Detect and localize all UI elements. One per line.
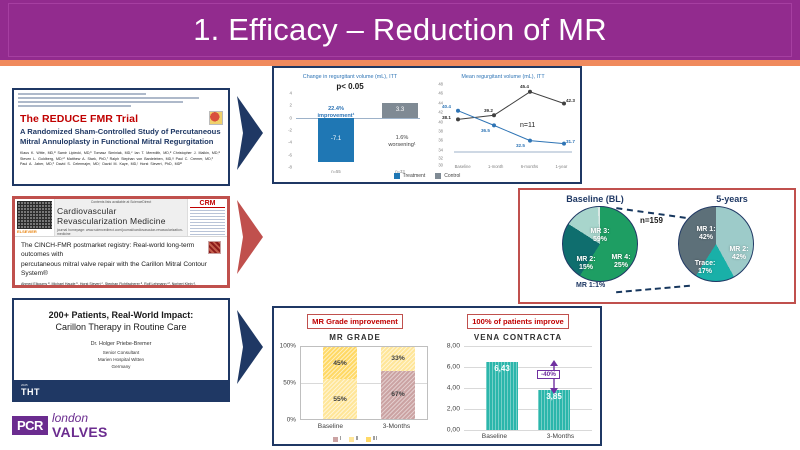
y-tick: 48 <box>438 81 443 86</box>
legend-label-grade-II: II <box>356 436 359 442</box>
bar-control[interactable]: 3.3 <box>382 103 418 118</box>
bar-vena-baseline[interactable]: 6,43 <box>486 362 518 430</box>
connector-bottom <box>616 285 690 293</box>
presentation-title-line1: 200+ Patients, Real-World Impact: <box>49 309 194 321</box>
grade-plot-frame: 45% 55% 33% 67% <box>300 346 428 420</box>
vc-plot-area: 8,00 6,00 4,00 2,00 0,00 6,43 3,85 <box>464 346 592 430</box>
note-treatment-line2: improvement¹ <box>302 113 370 120</box>
point-label-control-1month: 39.2 <box>484 108 493 113</box>
legend-swatch-treatment <box>394 173 400 179</box>
pie-slice-value-mr4: 25% <box>614 262 628 269</box>
elsevier-logo: ELSEVIER <box>15 199 55 236</box>
note-control-line1: 1.6% <box>374 135 430 142</box>
segment-3months-I: 67% <box>381 371 415 419</box>
segment-baseline-II: 55% <box>323 379 357 419</box>
pie-title-baseline: Baseline (BL) <box>566 194 624 204</box>
pie-slice-label-mr2-5y: MR 2: 42% <box>720 246 758 263</box>
presenter-role: Senior Consultant <box>103 350 140 357</box>
crossmark-icon <box>208 241 221 254</box>
publication-title-line2: percutaneous mitral valve repair with th… <box>21 260 221 279</box>
panel-routine-care-charts: MR Grade improvement MR GRADE 100% 50% 0… <box>272 306 602 446</box>
legend-label-grade-I: I <box>340 436 342 442</box>
publication-subtitle-line1: A Randomized Sham-Controlled Study of Pe… <box>20 127 222 137</box>
chart-title-mr-grade: MR GRADE <box>276 333 434 342</box>
grade-plot-area: 100% 50% 0% 45% 55% 33% 67% <box>300 346 428 420</box>
publication-card-cinch-fmr[interactable]: ELSEVIER Contents lists available at Sci… <box>12 196 230 288</box>
legend-label-grade-III: III <box>373 436 378 442</box>
chart-mr-grade-improvement: MR Grade improvement MR GRADE 100% 50% 0… <box>274 308 436 444</box>
publication-card-reduce-fmr[interactable]: The REDUCE FMR Trial A Randomized Sham-C… <box>12 88 230 186</box>
x-tick-3months: 3-Months <box>383 423 411 430</box>
pie-slice-value-trace: 17% <box>698 268 712 275</box>
chart-title-vena-contracta: VENA CONTRACTA <box>438 333 598 342</box>
arrow-middle-icon <box>237 200 271 274</box>
stacked-bar-baseline[interactable]: 45% 55% <box>323 347 357 419</box>
legend-label-treatment: Treatment <box>403 173 426 179</box>
presenter-name: Dr. Holger Priebe-Bremer <box>91 341 152 347</box>
point-label-control-baseline: 38.1 <box>442 115 451 120</box>
legend-item-grade-II: II <box>349 436 359 442</box>
page-title: 1. Efficacy – Reduction of MR <box>0 0 800 60</box>
tht-footer: 2025 THT <box>14 380 228 400</box>
x-axis-ticks: Baseline 3-Months <box>462 433 594 440</box>
n-annotation: n=11 <box>520 122 535 129</box>
y-tick: 32 <box>438 155 443 160</box>
legend-item-grade-I: I <box>333 436 342 442</box>
publication-title-line1: The CINCH-FMR postmarket registry: Real-… <box>21 241 221 260</box>
pie-slice-name-mr3: MR 3: <box>590 228 609 235</box>
delta-label: -40% <box>537 370 560 379</box>
y-tick: 42 <box>438 110 443 115</box>
pie-slice-label-mr2: MR 2: 15% <box>570 256 602 273</box>
pie-slice-label-mr3: MR 3: 59% <box>578 228 622 245</box>
x-axis-ticks: Baseline 3-Months <box>298 423 430 430</box>
sample-size-label: n=159 <box>640 216 663 225</box>
publication-authors-line3: Paul A. Jaber, MD,ʰ David S. Celermajer,… <box>20 162 222 168</box>
x-tick: 1-month <box>488 164 503 169</box>
y-tick: 4,00 <box>447 385 460 392</box>
elsevier-tree-icon <box>17 201 52 229</box>
crm-brand-block: CRM <box>187 199 227 236</box>
y-tick: 38 <box>438 129 443 134</box>
pie-slice-value-mr2: 15% <box>579 264 593 271</box>
chart-mean-regurgitant-volume: Mean regurgitant volume (mL), ITT 48 46 … <box>426 68 580 182</box>
publication-title: The REDUCE FMR Trial <box>20 113 222 125</box>
logo-london-text: london <box>52 412 108 424</box>
pie-title-5years: 5-years <box>716 194 748 204</box>
pie-slice-name-mr2-5y: MR 2: <box>729 246 748 253</box>
point-label-treatment-1month: 36.5 <box>481 128 490 133</box>
publication-authors-line1: Klaus K. Witte, MD,ª Samir Lipiecki, MD,… <box>20 151 222 157</box>
arrow-bottom-icon <box>237 310 271 384</box>
pie-slice-label-mr4: MR 4: 25% <box>604 254 638 271</box>
publication-authors-line1: Ahmed Elkoumy ª, Michael Haude ᵇ, Horst … <box>21 282 221 288</box>
chart-legend: Treatment Control <box>274 173 580 179</box>
bar-value-control: 3.3 <box>382 107 418 113</box>
crm-label: CRM <box>190 200 225 208</box>
x-tick: Baseline <box>455 164 471 169</box>
presenter-country: Germany <box>112 364 131 371</box>
x-tick: 6-months <box>521 164 538 169</box>
logo-valves-text: VALVES <box>52 425 108 439</box>
point-label-control-6months: 45.4 <box>520 84 529 89</box>
pie-slice-value-mr3: 59% <box>593 236 607 243</box>
y-tick: 4 <box>290 91 292 96</box>
point-label-treatment-baseline: 40.4 <box>442 104 451 109</box>
y-tick: 30 <box>438 163 443 168</box>
point-label-treatment-6months: 32.5 <box>516 143 525 148</box>
note-treatment-line1: 22.4% <box>302 106 370 113</box>
contents-note: Contents lists available at ScienceDirec… <box>91 200 151 204</box>
tht-brand: THT <box>21 387 40 397</box>
crm-cover-thumb <box>190 209 225 235</box>
y-tick: 0 <box>290 115 292 120</box>
note-control: 1.6% worsening¹ <box>374 135 430 149</box>
presentation-card-carillon-routine-care[interactable]: 200+ Patients, Real-World Impact: Carill… <box>12 298 230 402</box>
legend-item-treatment: Treatment <box>394 173 426 179</box>
y-tick: 50% <box>283 380 296 387</box>
y-tick: -6 <box>288 152 292 157</box>
bar-value-treatment: -7.1 <box>318 136 354 142</box>
point-label-treatment-1year: 31.7 <box>566 139 575 144</box>
note-treatment: 22.4% improvement¹ <box>302 106 370 120</box>
y-tick: 0% <box>287 417 296 424</box>
x-tick: 1-year <box>555 164 567 169</box>
grade-legend: I II III <box>274 436 436 442</box>
pie-slice-label-mr1-5y: MR 1: 42% <box>686 226 726 243</box>
pie-slice-name-mr1: MR 1: <box>576 282 595 289</box>
pie-slice-value-mr1: 1% <box>595 282 605 289</box>
y-tick: -2 <box>288 128 292 133</box>
y-tick: 100% <box>280 343 296 350</box>
bar-value-baseline: 6,43 <box>486 364 518 373</box>
line-series-svg <box>446 82 574 158</box>
y-axis-ticks: 4 2 0 -2 -4 -6 -8 <box>276 93 294 167</box>
y-tick: -8 <box>288 165 292 170</box>
chart-change-in-regurgitant-volume: Change in regurgitant volume (mL), ITT p… <box>274 68 426 182</box>
pie-slice-name-mr1-5y: MR 1: <box>696 226 715 233</box>
pie-slice-name-mr4: MR 4: <box>611 254 630 261</box>
y-tick: 34 <box>438 147 443 152</box>
legend-swatch-grade-III <box>366 437 371 442</box>
line-plot-area: 48 46 44 42 40 38 36 34 32 30 <box>446 82 576 168</box>
x-tick-baseline: Baseline <box>318 423 343 430</box>
pcr-mark: PCR <box>12 416 48 435</box>
journal-metadata-lines <box>14 90 228 111</box>
elsevier-label: ELSEVIER <box>17 229 52 234</box>
segment-3months-II: 33% <box>381 347 415 371</box>
publication-subtitle-line2: Mitral Annuloplasty in Functional Mitral… <box>20 137 222 147</box>
chart-title: Mean regurgitant volume (mL), ITT <box>428 74 578 80</box>
bar-vena-3months[interactable]: 3,85 <box>538 390 570 430</box>
stacked-bar-3months[interactable]: 33% 67% <box>381 347 415 419</box>
legend-swatch-control <box>435 173 441 179</box>
legend-label-control: Control <box>444 173 460 179</box>
x-tick-baseline: Baseline <box>482 433 507 440</box>
arrow-top-icon <box>237 96 271 170</box>
presentation-title-line2: Carillon Therapy in Routine Care <box>56 321 187 333</box>
y-tick: 6,00 <box>447 364 460 371</box>
bar-plot-area: 4 2 0 -2 -4 -6 -8 -7.1 3.3 <box>296 93 420 167</box>
bar-treatment[interactable]: -7.1 <box>318 118 354 162</box>
callout-vena-contracta: 100% of patients improve <box>467 314 569 329</box>
chart-vena-contracta: 100% of patients improve VENA CONTRACTA … <box>436 308 600 444</box>
legend-item-grade-III: III <box>366 436 378 442</box>
y-tick: 2 <box>290 103 292 108</box>
x-axis-ticks: Baseline 1-month 6-months 1-year <box>446 164 576 169</box>
y-axis-ticks: 48 46 44 42 40 38 36 34 32 30 <box>428 82 444 168</box>
pie-slice-name-trace: Trace: <box>695 260 716 267</box>
y-tick: 36 <box>438 138 443 143</box>
tht-year: 2025 <box>21 384 40 387</box>
chart-title: Change in regurgitant volume (mL), ITT <box>276 74 424 80</box>
legend-swatch-grade-I <box>333 437 338 442</box>
y-tick: 46 <box>438 91 443 96</box>
journal-homepage-note: journal homepage: www.sciencedirect.com/… <box>57 228 185 236</box>
pie-slice-label-mr1-baseline: MR 1:1% <box>576 282 605 289</box>
note-control-line2: worsening¹ <box>374 142 430 149</box>
y-tick: 8,00 <box>447 343 460 350</box>
callout-mr-grade: MR Grade improvement <box>307 314 403 329</box>
journal-masthead: ELSEVIER Contents lists available at Sci… <box>15 199 227 237</box>
pie-slice-label-trace: Trace: 17% <box>686 260 724 277</box>
y-tick: 0,00 <box>447 427 460 434</box>
journal-logo-icon <box>209 111 223 125</box>
pvalue-annotation: p< 0.05 <box>276 82 424 91</box>
point-label-control-1year: 42.3 <box>566 98 575 103</box>
y-axis-ticks: 100% 50% 0% <box>276 346 298 420</box>
pcr-london-valves-logo: PCR london VALVES <box>12 412 108 439</box>
panel-mr-grade-pies: Baseline (BL) 5-years MR 3: 59% MR 4: 25… <box>518 188 796 304</box>
y-axis-ticks: 8,00 6,00 4,00 2,00 0,00 <box>438 346 462 430</box>
x-tick-3months: 3-Months <box>547 433 575 440</box>
y-tick: 2,00 <box>447 406 460 413</box>
panel-reduce-fmr-charts: Change in regurgitant volume (mL), ITT p… <box>272 66 582 184</box>
pie-slice-name-mr2: MR 2: <box>576 256 595 263</box>
journal-name: Cardiovascular Revascularization Medicin… <box>57 206 185 226</box>
legend-item-control: Control <box>435 173 460 179</box>
legend-swatch-grade-II <box>349 437 354 442</box>
presenter-affiliation: Marien Hospital Witten <box>98 357 144 364</box>
segment-baseline-III: 45% <box>323 347 357 379</box>
pie-slice-value-mr1-5y: 42% <box>699 234 713 241</box>
y-tick: -4 <box>288 140 292 145</box>
pie-slice-value-mr2-5y: 42% <box>732 254 746 261</box>
